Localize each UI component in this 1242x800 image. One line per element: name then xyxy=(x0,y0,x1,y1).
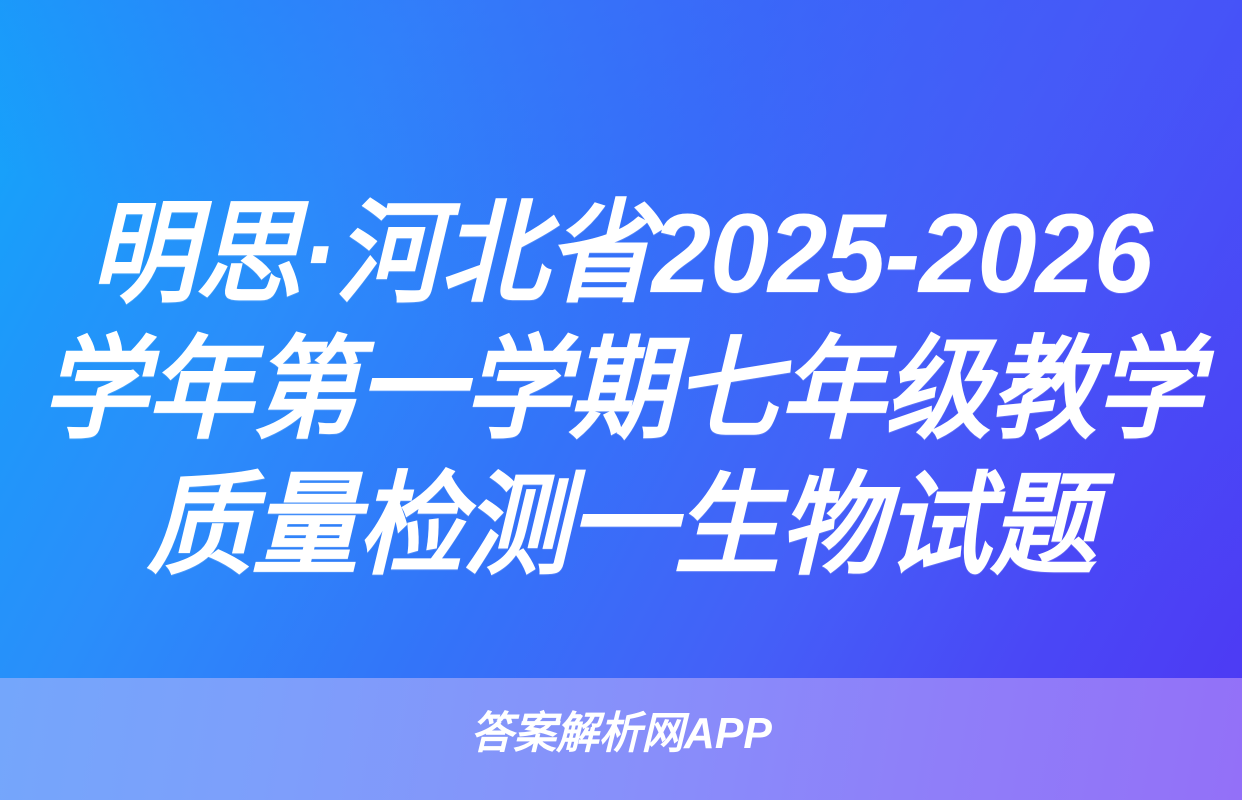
hero-gradient-background xyxy=(0,0,1242,678)
watermark-label: 答案解析网APP xyxy=(470,706,771,762)
exam-cover-banner: 明思·河北省2025-2026 学年第一学期七年级教学 质量检测一生物试题 答案… xyxy=(0,0,1242,800)
watermark: 答案解析网APP xyxy=(0,706,1242,762)
